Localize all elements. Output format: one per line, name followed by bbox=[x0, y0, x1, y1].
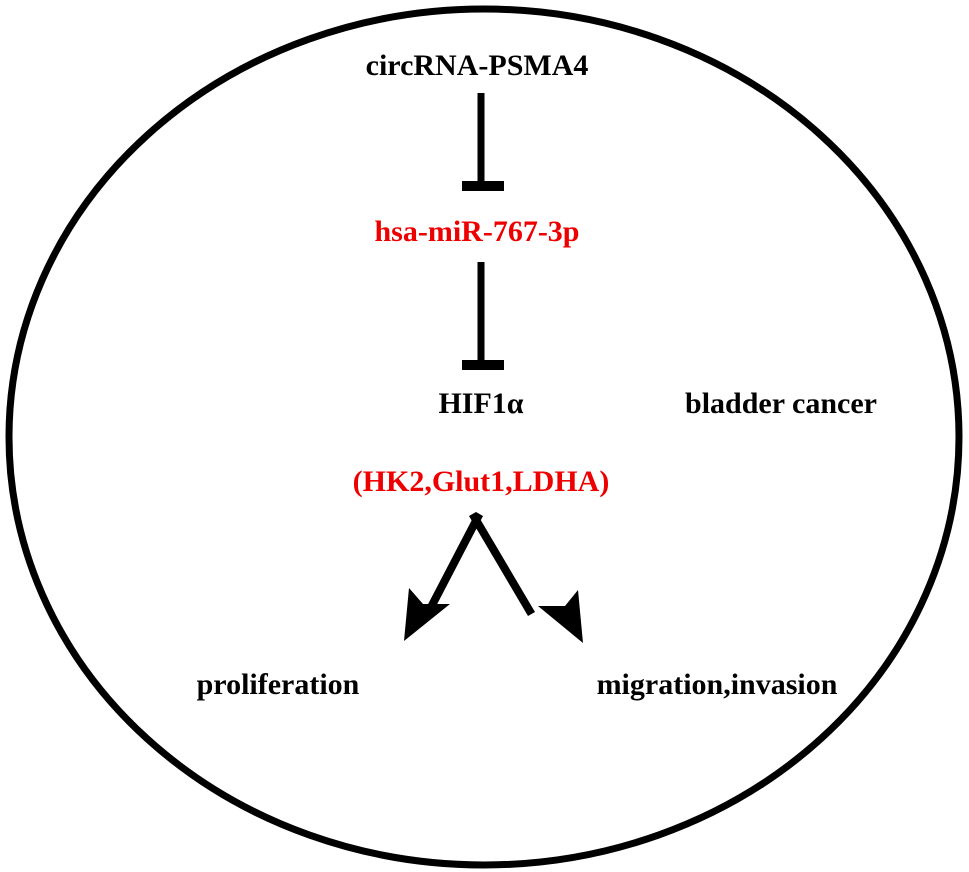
pathway-diagram: circRNA-PSMA4 hsa-miR-767-3p HIF1α (HK2,… bbox=[0, 0, 969, 872]
node-label-migration-invasion: migration,invasion bbox=[597, 668, 838, 701]
inhibition-connector-circrna-mirna bbox=[462, 93, 504, 186]
activation-arrow-left bbox=[404, 512, 483, 641]
node-label-mirna: hsa-miR-767-3p bbox=[374, 215, 579, 248]
node-label-glycolysis-genes: (HK2,Glut1,LDHA) bbox=[353, 465, 610, 498]
pathway-canvas: circRNA-PSMA4 hsa-miR-767-3p HIF1α (HK2,… bbox=[0, 0, 969, 872]
inhibition-connector-mirna-hif1a bbox=[462, 262, 504, 365]
arrowhead bbox=[404, 588, 450, 641]
arrowhead bbox=[538, 590, 583, 643]
activation-arrow-right bbox=[469, 512, 583, 643]
node-label-hif1a: HIF1α bbox=[438, 387, 523, 420]
arrow-shaft bbox=[425, 512, 483, 614]
node-label-bladder-cancer: bladder cancer bbox=[685, 387, 877, 420]
arrow-shaft bbox=[469, 512, 535, 616]
node-label-proliferation: proliferation bbox=[197, 668, 360, 701]
node-label-circrna: circRNA-PSMA4 bbox=[366, 49, 589, 82]
